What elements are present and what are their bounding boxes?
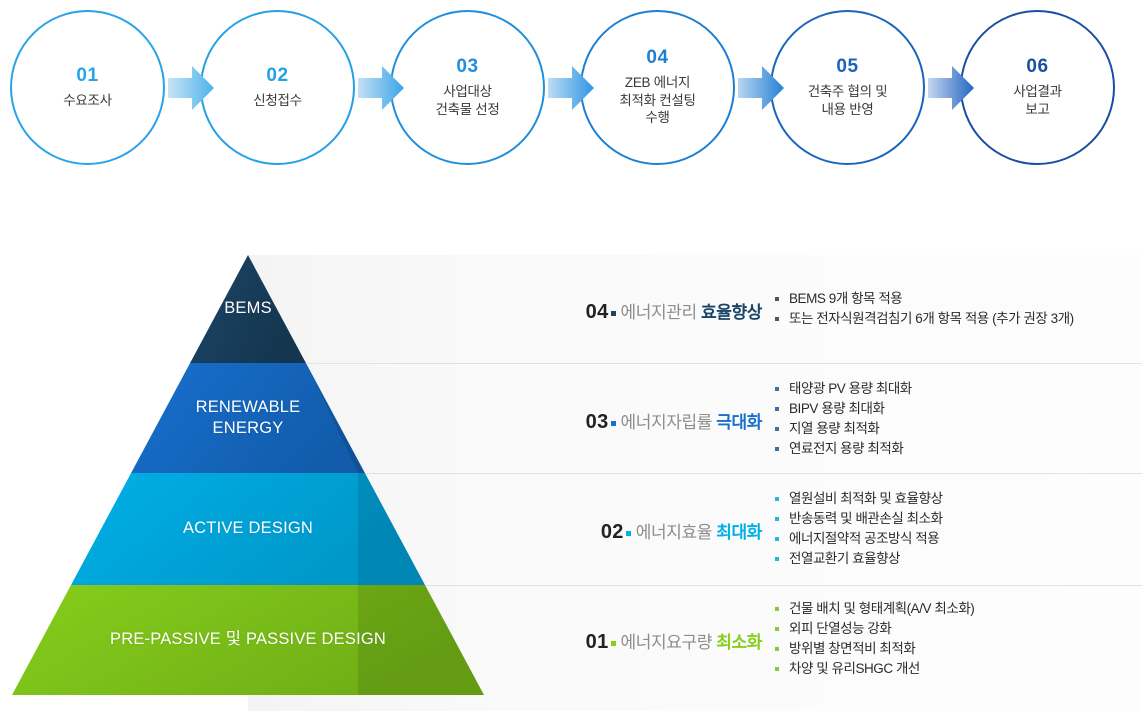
process-step-number: 05 xyxy=(836,57,858,76)
pyramid-layer-label: BEMS xyxy=(48,298,448,319)
process-step-label: 건축주 협의 및 내용 반영 xyxy=(808,83,888,119)
row-bullet-item: 차양 및 유리SHGC 개선 xyxy=(775,659,974,679)
row-bullet-item: BIPV 용량 최대화 xyxy=(775,399,912,419)
row-bullet-item: 지열 용량 최적화 xyxy=(775,419,912,439)
row-label: 에너지요구량 xyxy=(621,633,717,652)
row-bullet-item: 외피 단열성능 강화 xyxy=(775,619,974,639)
pyramid-layer-label: RENEWABLE ENERGY xyxy=(48,397,448,439)
row-emphasis: 효율향상 xyxy=(701,303,762,322)
row-bullet-list: 태양광 PV 용량 최대화BIPV 용량 최대화지열 용량 최적화연료전지 용량… xyxy=(775,379,912,459)
row-bullet-item: 연료전지 용량 최적화 xyxy=(775,439,912,459)
process-step-02[interactable]: 02신청접수 xyxy=(200,10,355,165)
pyramid-layer-label: PRE-PASSIVE 및 PASSIVE DESIGN xyxy=(48,629,448,650)
process-step-label: 수요조사 xyxy=(63,92,111,110)
row-label: 에너지자립률 xyxy=(621,413,717,432)
process-step-05[interactable]: 05건축주 협의 및 내용 반영 xyxy=(770,10,925,165)
process-step-number: 02 xyxy=(266,66,288,85)
process-step-number: 01 xyxy=(76,66,98,85)
process-step-label: 사업대상 건축물 선정 xyxy=(435,83,499,119)
process-step-06[interactable]: 06사업결과 보고 xyxy=(960,10,1115,165)
process-arrow-4 xyxy=(738,64,784,112)
row-dot-icon xyxy=(626,531,631,536)
row-bullet-item: 전열교환기 효율향상 xyxy=(775,549,943,569)
row-title: 01에너지요구량 최소화 xyxy=(500,628,762,654)
process-flow-diagram: 01수요조사02신청접수03사업대상 건축물 선정04ZEB 에너지 최적화 컨… xyxy=(0,0,1142,180)
row-bullet-item: 또는 전자식원격검침기 6개 항목 적용 (추가 권장 3개) xyxy=(775,309,1074,329)
process-step-label: 신청접수 xyxy=(253,92,301,110)
row-dot-icon xyxy=(611,311,616,316)
row-title: 03에너지자립률 극대화 xyxy=(500,408,762,434)
process-arrow-2 xyxy=(358,64,404,112)
process-step-01[interactable]: 01수요조사 xyxy=(10,10,165,165)
process-step-04[interactable]: 04ZEB 에너지 최적화 컨설팅 수행 xyxy=(580,10,735,165)
row-bullet-list: BEMS 9개 항목 적용또는 전자식원격검침기 6개 항목 적용 (추가 권장… xyxy=(775,289,1074,329)
row-bullet-list: 건물 배치 및 형태계획(A/V 최소화)외피 단열성능 강화방위별 창면적비 … xyxy=(775,599,974,679)
row-bullet-item: 반송동력 및 배관손실 최소화 xyxy=(775,509,943,529)
row-bullet-list: 열원설비 최적화 및 효율향상반송동력 및 배관손실 최소화에너지절약적 공조방… xyxy=(775,489,943,569)
row-number: 03 xyxy=(586,411,609,433)
process-arrow-1 xyxy=(168,64,214,112)
row-number: 01 xyxy=(586,631,609,653)
process-step-number: 03 xyxy=(456,57,478,76)
row-emphasis: 극대화 xyxy=(716,413,762,432)
row-number: 02 xyxy=(601,521,624,543)
row-bullet-item: 태양광 PV 용량 최대화 xyxy=(775,379,912,399)
pyramid-layer-label: ACTIVE DESIGN xyxy=(48,518,448,539)
row-title: 04에너지관리 효율향상 xyxy=(500,298,762,324)
row-bullet-item: 열원설비 최적화 및 효율향상 xyxy=(775,489,943,509)
row-number: 04 xyxy=(586,301,609,323)
row-label: 에너지효율 xyxy=(636,523,717,542)
process-arrow-3 xyxy=(548,64,594,112)
process-step-number: 06 xyxy=(1026,57,1048,76)
process-step-03[interactable]: 03사업대상 건축물 선정 xyxy=(390,10,545,165)
process-step-label: ZEB 에너지 최적화 컨설팅 수행 xyxy=(619,74,695,128)
process-step-label: 사업결과 보고 xyxy=(1013,83,1061,119)
process-arrow-5 xyxy=(928,64,974,112)
row-bullet-item: 건물 배치 및 형태계획(A/V 최소화) xyxy=(775,599,974,619)
row-dot-icon xyxy=(611,641,616,646)
row-bullet-item: BEMS 9개 항목 적용 xyxy=(775,289,1074,309)
row-bullet-item: 방위별 창면적비 최적화 xyxy=(775,639,974,659)
row-emphasis: 최소화 xyxy=(716,633,762,652)
row-label: 에너지관리 xyxy=(621,303,702,322)
row-title: 02에너지효율 최대화 xyxy=(500,518,762,544)
row-emphasis: 최대화 xyxy=(716,523,762,542)
row-bullet-item: 에너지절약적 공조방식 적용 xyxy=(775,529,943,549)
process-step-number: 04 xyxy=(646,48,668,67)
row-dot-icon xyxy=(611,421,616,426)
